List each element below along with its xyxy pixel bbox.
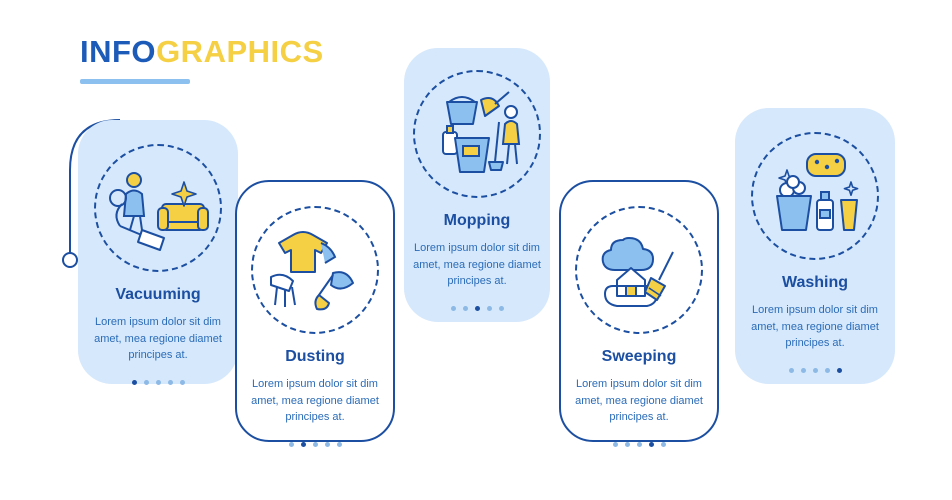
- dot: [180, 380, 185, 385]
- dot: [463, 306, 468, 311]
- card-title: Washing: [782, 274, 848, 292]
- icon-area: [237, 206, 393, 334]
- step-card-washing[interactable]: Washing Lorem ipsum dolor sit dim amet, …: [735, 108, 895, 384]
- dot: [313, 442, 318, 447]
- progress-dots: [451, 306, 504, 311]
- dot: [801, 368, 806, 373]
- duster-cloth-icon: [251, 206, 379, 334]
- mop-bucket-icon: [413, 70, 541, 198]
- sponge-bucket-icon: [751, 132, 879, 260]
- card-description: Lorem ipsum dolor sit dim amet, mea regi…: [740, 302, 890, 352]
- dot: [789, 368, 794, 373]
- dot: [487, 306, 492, 311]
- card-description: Lorem ipsum dolor sit dim amet, mea regi…: [240, 376, 390, 426]
- icon-area: [735, 132, 895, 260]
- dot: [156, 380, 161, 385]
- dot: [325, 442, 330, 447]
- title-underline: [80, 79, 190, 84]
- dot: [168, 380, 173, 385]
- card-title: Sweeping: [602, 348, 677, 366]
- card-description: Lorem ipsum dolor sit dim amet, mea regi…: [402, 240, 552, 290]
- icon-area: [561, 206, 717, 334]
- step-card-sweeping[interactable]: Sweeping Lorem ipsum dolor sit dim amet,…: [559, 180, 719, 442]
- step-card-vacuuming[interactable]: Vacuuming Lorem ipsum dolor sit dim amet…: [78, 120, 238, 384]
- dot: [637, 442, 642, 447]
- icon-area: [78, 144, 238, 272]
- card-description: Lorem ipsum dolor sit dim amet, mea regi…: [564, 376, 714, 426]
- title-part-graphics: GRAPHICS: [156, 34, 324, 69]
- card-title: Dusting: [285, 348, 345, 366]
- infographic-canvas: INFOGRAPHICS: [0, 0, 952, 500]
- dot: [337, 442, 342, 447]
- dot: [475, 306, 480, 311]
- dot: [661, 442, 666, 447]
- progress-dots: [132, 380, 185, 385]
- icon-area: [404, 70, 550, 198]
- card-title: Vacuuming: [115, 286, 200, 304]
- dot: [301, 442, 306, 447]
- dot: [613, 442, 618, 447]
- progress-dots: [613, 442, 666, 447]
- dot: [499, 306, 504, 311]
- dot: [649, 442, 654, 447]
- step-card-dusting[interactable]: Dusting Lorem ipsum dolor sit dim amet, …: [235, 180, 395, 442]
- dot: [132, 380, 137, 385]
- progress-dots: [289, 442, 342, 447]
- page-title: INFOGRAPHICS: [80, 36, 324, 84]
- title-part-info: INFO: [80, 34, 156, 69]
- dot: [825, 368, 830, 373]
- dot: [813, 368, 818, 373]
- dot: [625, 442, 630, 447]
- card-title: Mopping: [444, 212, 511, 230]
- broom-dustpan-icon: [575, 206, 703, 334]
- card-description: Lorem ipsum dolor sit dim amet, mea regi…: [83, 314, 233, 364]
- dot: [144, 380, 149, 385]
- dot: [451, 306, 456, 311]
- vacuum-cleaner-icon: [94, 144, 222, 272]
- dot: [837, 368, 842, 373]
- progress-dots: [789, 368, 842, 373]
- step-card-mopping[interactable]: Mopping Lorem ipsum dolor sit dim amet, …: [404, 48, 550, 322]
- dot: [289, 442, 294, 447]
